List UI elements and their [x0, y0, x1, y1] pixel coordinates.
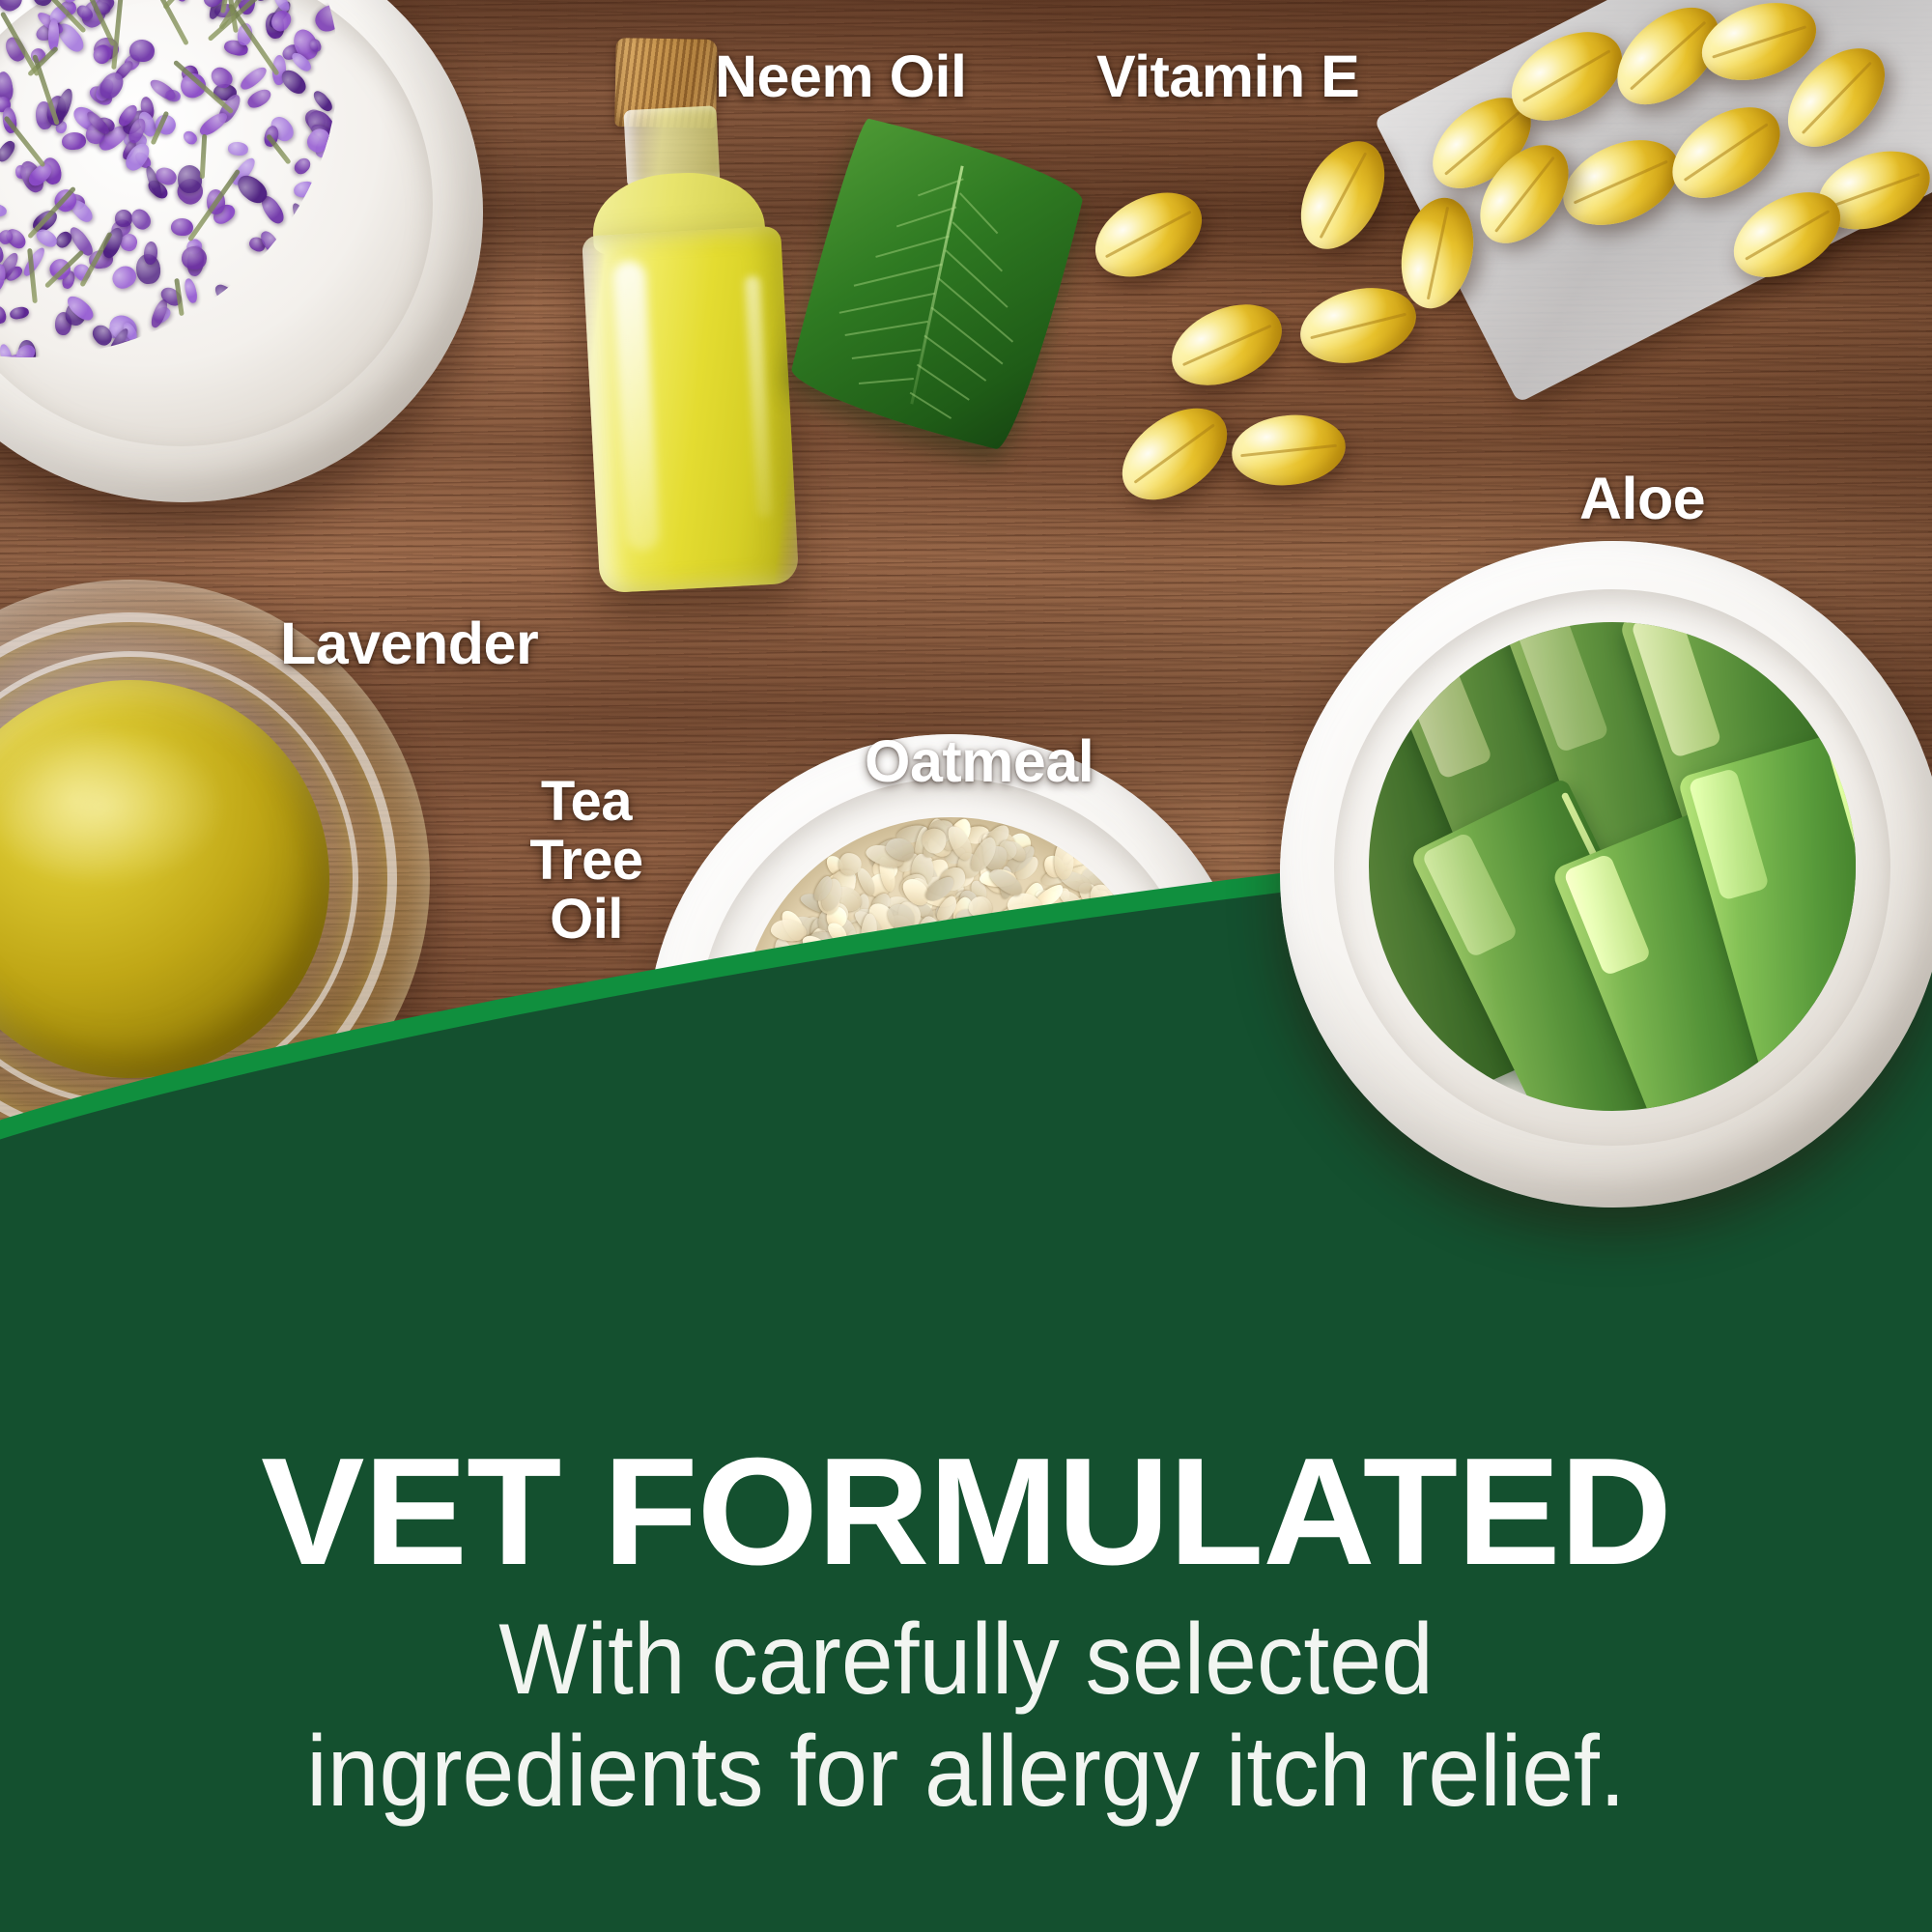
banner-subline: With carefully selected ingredients for …: [68, 1604, 1864, 1829]
ingredient-label-tea-tree-oil: Tea Tree Oil: [504, 773, 668, 950]
ingredient-label-lavender: Lavender: [280, 613, 538, 673]
tea-tree-line-2: Tree: [504, 832, 668, 891]
banner-subline-2: ingredients for allergy itch relief.: [68, 1716, 1864, 1828]
aloe-spears: [1369, 622, 1856, 1111]
tea-tree-line-1: Tea: [504, 773, 668, 832]
ingredient-label-vitamin-e: Vitamin E: [1096, 46, 1359, 106]
aloe-gel-edge: [1369, 668, 1374, 814]
ingredient-label-neem-oil: Neem Oil: [715, 46, 966, 106]
ingredient-label-aloe: Aloe: [1579, 469, 1705, 528]
banner-subline-1: With carefully selected: [68, 1604, 1864, 1716]
ingredient-label-oatmeal: Oatmeal: [865, 731, 1094, 791]
tea-tree-line-3: Oil: [504, 891, 668, 950]
ingredient-poster: Neem Oil Vitamin E Aloe Lavender Oatmeal…: [0, 0, 1932, 1932]
aloe-bowl-photo: [1280, 541, 1932, 1207]
aloe-spine-edge: [1828, 748, 1856, 1111]
banner-headline: VET FORMULATED: [0, 1435, 1932, 1588]
